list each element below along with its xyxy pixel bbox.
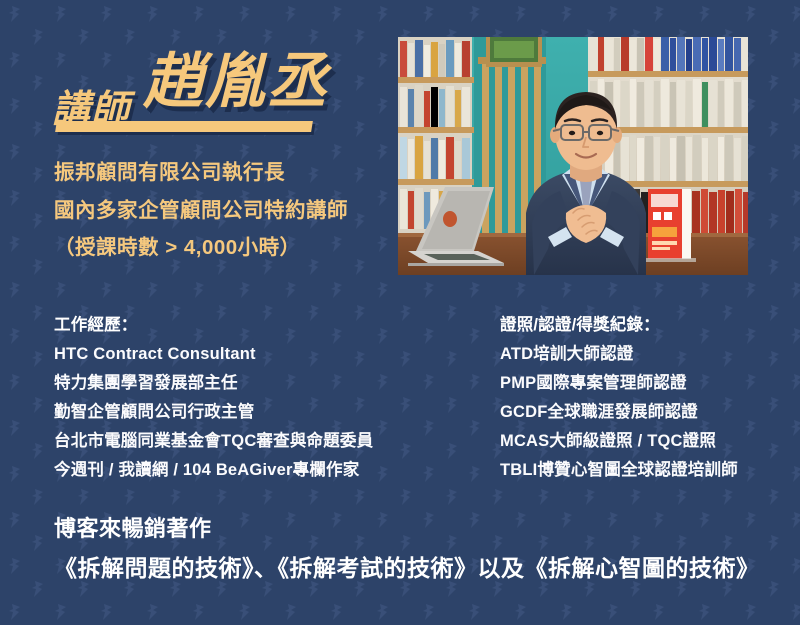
experience-column: 工作經歷： HTC Contract Consultant 特力集團學習發展部主… <box>54 317 474 479</box>
books-heading: 博客來暢銷著作 <box>54 518 764 540</box>
experience-item-5: 今週刊 / 我讀網 / 104 BeAGiver專欄作家 <box>54 462 474 479</box>
experience-item-3: 勤智企管顧問公司行政主管 <box>54 404 474 421</box>
speaker-profile-slide: 講師趙胤丞 振邦顧問有限公司執行長 國內多家企管顧問公司特約講師 （授課時數 >… <box>0 0 800 625</box>
standing-book <box>644 189 696 262</box>
experience-heading: 工作經歷： <box>54 317 474 334</box>
title-block: 講師趙胤丞 <box>52 52 402 142</box>
books-block: 博客來暢銷著作 《拆解問題的技術》、《拆解考試的技術》以及《拆解心智圖的技術》 <box>54 518 764 580</box>
books-titles: 《拆解問題的技術》、《拆解考試的技術》以及《拆解心智圖的技術》 <box>54 557 764 580</box>
subtitle-block: 振邦顧問有限公司執行長 國內多家企管顧問公司特約講師 （授課時數 > 4,000… <box>54 163 394 259</box>
subtitle-line-2: 國內多家企管顧問公司特約講師 <box>54 201 394 222</box>
credentials-item-1: ATD培訓大師認證 <box>500 346 790 363</box>
subtitle-line-1: 振邦顧問有限公司執行長 <box>54 163 394 184</box>
credentials-item-2: PMP國際專案管理師認證 <box>500 375 790 392</box>
slide-content: 講師趙胤丞 振邦顧問有限公司執行長 國內多家企管顧問公司特約講師 （授課時數 >… <box>0 0 800 625</box>
experience-item-1: HTC Contract Consultant <box>54 346 474 363</box>
credentials-column: 證照/認證/得獎紀錄： ATD培訓大師認證 PMP國際專案管理師認證 GCDF全… <box>500 317 790 479</box>
credentials-item-4: MCAS大師級證照 / TQC證照 <box>500 433 790 450</box>
credentials-item-3: GCDF全球職涯發展師認證 <box>500 404 790 421</box>
speaker-photo-illustration <box>398 37 748 275</box>
title-underline-bar <box>55 121 313 132</box>
speaker-name: 趙胤丞 <box>143 52 329 112</box>
credentials-item-5: TBLI博贊心智圖全球認證培訓師 <box>500 462 790 479</box>
experience-item-4: 台北市電腦同業基金會TQC審查與命題委員 <box>54 433 474 450</box>
experience-item-2: 特力集團學習發展部主任 <box>54 375 474 392</box>
speaker-photo <box>398 37 748 275</box>
title-row: 講師趙胤丞 <box>52 52 329 112</box>
subtitle-line-3: （授課時數 > 4,000小時） <box>54 238 394 259</box>
credentials-heading: 證照/認證/得獎紀錄： <box>500 317 790 334</box>
